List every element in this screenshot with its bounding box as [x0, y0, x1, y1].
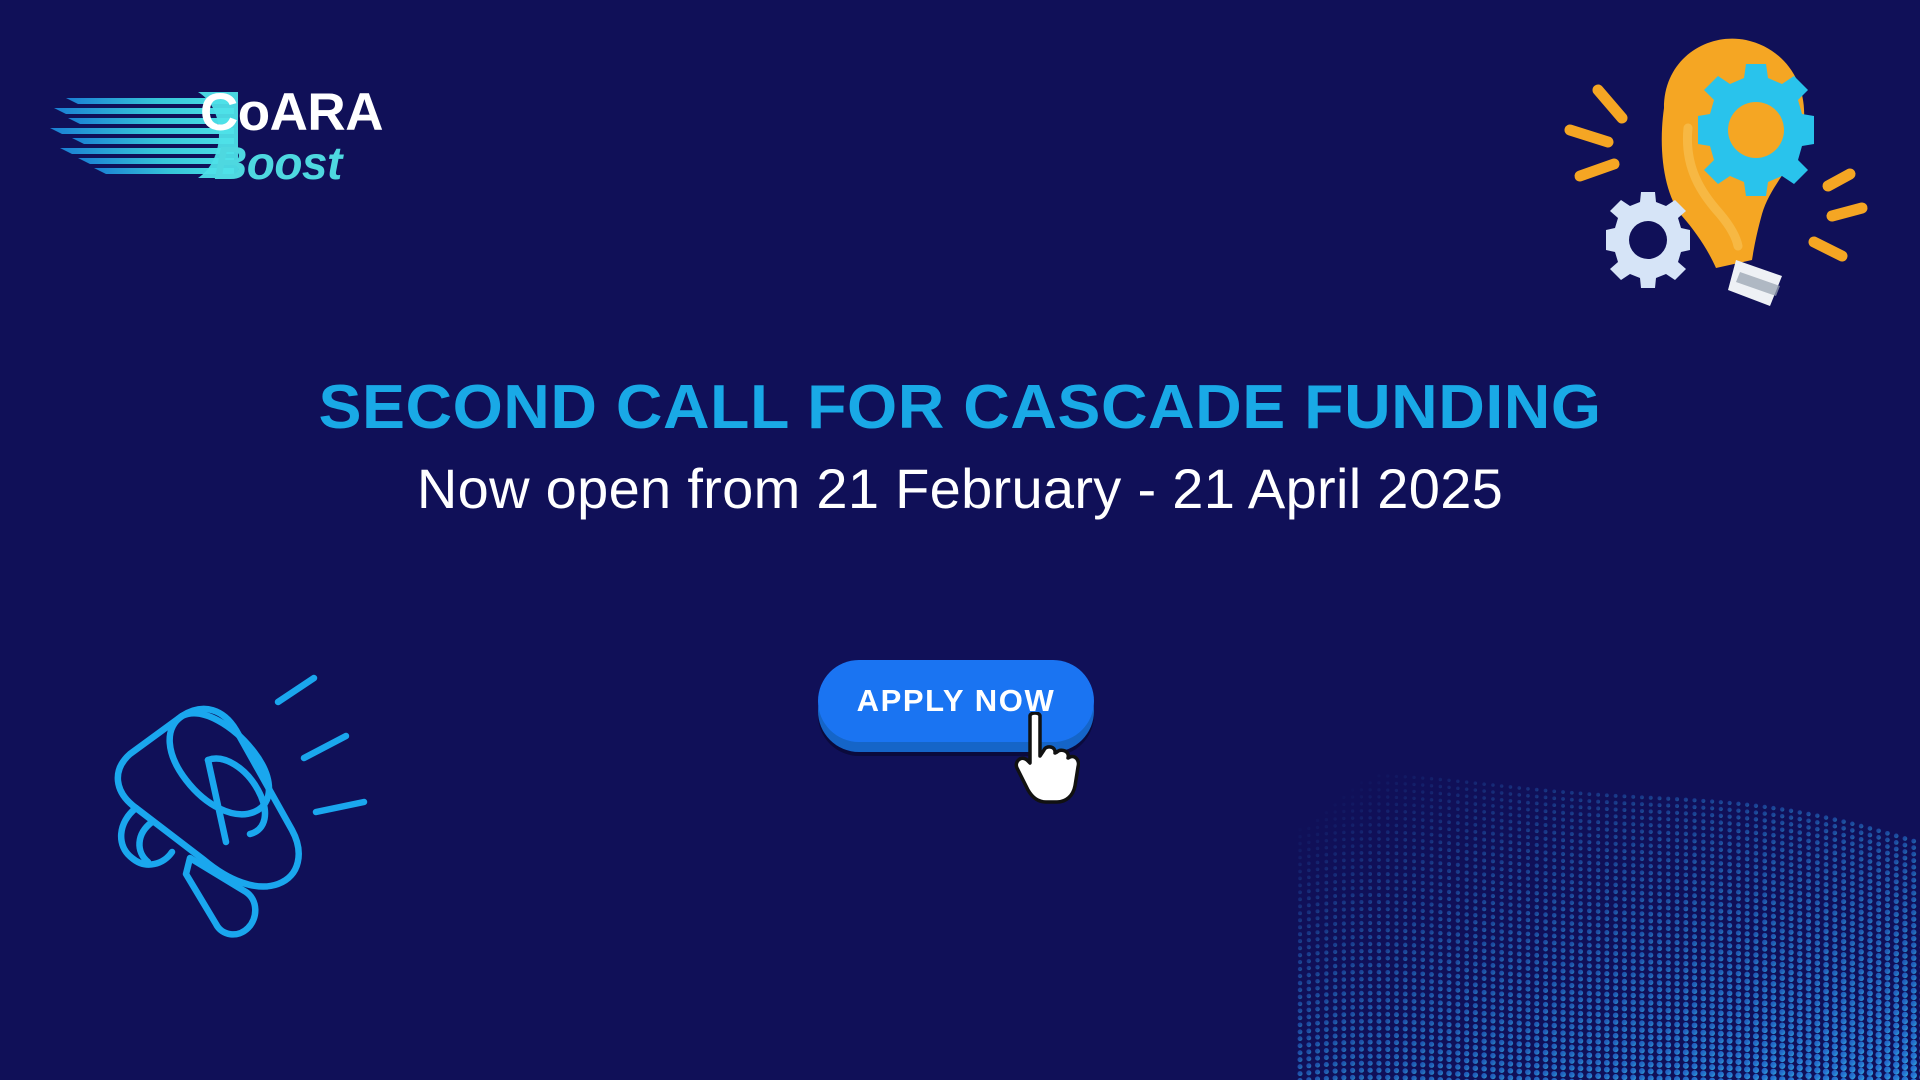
headline-block: SECOND CALL FOR CASCADE FUNDING Now open… — [0, 372, 1920, 522]
apply-now-button[interactable]: APPLY NOW — [818, 660, 1094, 742]
promotional-banner: CoARA Boost — [0, 0, 1920, 1080]
logo-coara-text: CoARA — [200, 86, 460, 140]
logo-boost-text: Boost — [214, 138, 460, 188]
particle-wave-icon — [1260, 700, 1920, 1080]
megaphone-icon — [78, 662, 388, 962]
page-title: SECOND CALL FOR CASCADE FUNDING — [0, 372, 1920, 444]
cta-area: APPLY NOW — [818, 660, 1108, 790]
logo-wordmark: CoARA Boost — [200, 86, 460, 188]
coara-boost-logo: CoARA Boost — [48, 86, 468, 206]
page-subtitle: Now open from 21 February - 21 April 202… — [0, 456, 1920, 522]
lightbulb-gears-icon — [1556, 18, 1886, 318]
